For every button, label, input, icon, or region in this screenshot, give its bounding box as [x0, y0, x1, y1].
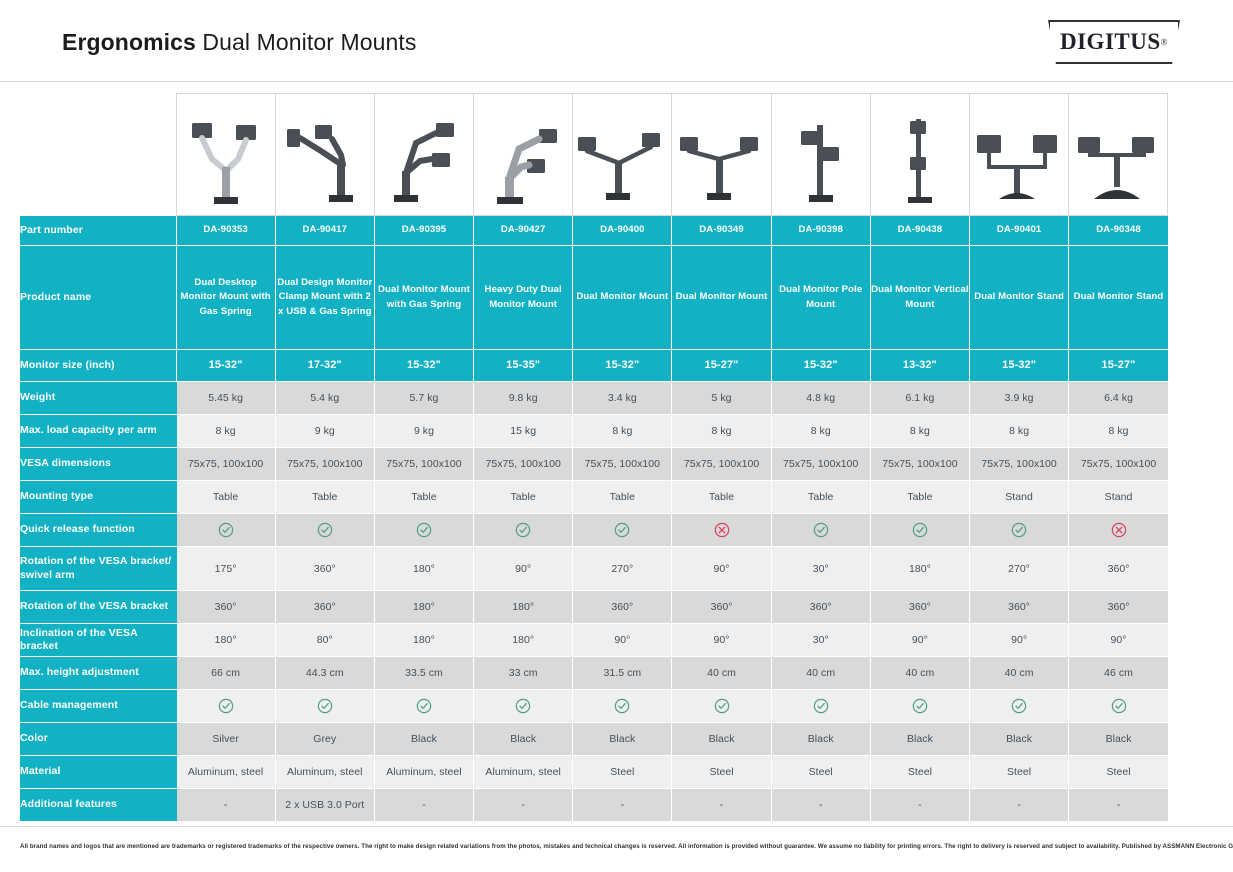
cell-part-number: DA-90427: [474, 216, 573, 246]
product-image-row: [20, 94, 1168, 216]
check-circle-icon: [218, 698, 234, 714]
cell-vesa-dimensions: 75x75, 100x100: [275, 448, 374, 481]
check-circle-icon: [416, 698, 432, 714]
product-image-dual-vertical-mount: [872, 103, 968, 215]
check-circle-icon: [317, 522, 333, 538]
cell-max-load-capacity: 8 kg: [573, 415, 672, 448]
cell-cable-management: [672, 690, 771, 723]
cell-cable-management: [573, 690, 672, 723]
cell-rotation-vesa-swivel-arm: 180°: [870, 547, 969, 591]
cell-max-load-capacity: 8 kg: [1069, 415, 1168, 448]
cell-mounting-type: Table: [672, 481, 771, 514]
cell-cable-management: [771, 690, 870, 723]
table-row-max-load-capacity: Max. load capacity per arm8 kg9 kg9 kg15…: [20, 415, 1168, 448]
cell-cable-management: [970, 690, 1069, 723]
row-label-material: Material: [20, 756, 176, 789]
logo-text-label: DIGITUS: [1060, 29, 1161, 55]
cell-product-name: Heavy Duty Dual Monitor Mount: [474, 246, 573, 350]
cell-max-height-adjustment: 40 cm: [870, 657, 969, 690]
cell-inclination-vesa-bracket: 80°: [275, 624, 374, 657]
cell-rotation-vesa-bracket: 180°: [374, 591, 473, 624]
cell-vesa-dimensions: 75x75, 100x100: [573, 448, 672, 481]
table-row-color: ColorSilverGreyBlackBlackBlackBlackBlack…: [20, 723, 1168, 756]
row-label-mounting-type: Mounting type: [20, 481, 176, 514]
cell-material: Steel: [672, 756, 771, 789]
cell-rotation-vesa-bracket: 360°: [970, 591, 1069, 624]
row-label-rotation-vesa-swivel-arm: Rotation of the VESA bracket/ swivel arm: [20, 547, 176, 591]
cell-additional-features: -: [771, 789, 870, 822]
cell-additional-features: -: [970, 789, 1069, 822]
cell-product-name: Dual Desktop Monitor Mount with Gas Spri…: [176, 246, 275, 350]
cell-additional-features: -: [474, 789, 573, 822]
cell-rotation-vesa-swivel-arm: 175°: [176, 547, 275, 591]
cell-rotation-vesa-swivel-arm: 360°: [1069, 547, 1168, 591]
cell-product-name: Dual Monitor Mount: [573, 246, 672, 350]
cell-material: Aluminum, steel: [374, 756, 473, 789]
cell-part-number: DA-90395: [374, 216, 473, 246]
check-circle-icon: [416, 522, 432, 538]
cell-monitor-size: 15-27": [1069, 350, 1168, 382]
cell-rotation-vesa-bracket: 360°: [275, 591, 374, 624]
cell-rotation-vesa-bracket: 360°: [672, 591, 771, 624]
cell-additional-features: -: [870, 789, 969, 822]
cell-vesa-dimensions: 75x75, 100x100: [176, 448, 275, 481]
cell-material: Steel: [573, 756, 672, 789]
cell-vesa-dimensions: 75x75, 100x100: [771, 448, 870, 481]
cell-mounting-type: Table: [573, 481, 672, 514]
cell-rotation-vesa-swivel-arm: 30°: [771, 547, 870, 591]
product-image-dual-monitor-stand-curved: [1070, 103, 1166, 215]
cell-rotation-vesa-swivel-arm: 360°: [275, 547, 374, 591]
row-label-max-height-adjustment: Max. height adjustment: [20, 657, 176, 690]
cell-max-load-capacity: 8 kg: [870, 415, 969, 448]
cell-material: Aluminum, steel: [275, 756, 374, 789]
cell-material: Aluminum, steel: [176, 756, 275, 789]
cell-max-height-adjustment: 66 cm: [176, 657, 275, 690]
row-label-product-name: Product name: [20, 246, 176, 350]
cell-mounting-type: Table: [176, 481, 275, 514]
table-row-material: MaterialAluminum, steelAluminum, steelAl…: [20, 756, 1168, 789]
cell-rotation-vesa-bracket: 360°: [176, 591, 275, 624]
product-image-dual-monitor-stand-flat: [971, 103, 1067, 215]
cell-monitor-size: 15-32": [573, 350, 672, 382]
product-image-dual-monitor-mount-bar: [674, 103, 770, 215]
product-image-cell: [1069, 94, 1168, 216]
cell-part-number: DA-90398: [771, 216, 870, 246]
table-row-monitor-size: Monitor size (inch)15-32"17-32"15-32"15-…: [20, 350, 1168, 382]
table-row-cable-management: Cable management: [20, 690, 1168, 723]
cell-additional-features: -: [374, 789, 473, 822]
footer-divider: [0, 826, 1233, 827]
cell-vesa-dimensions: 75x75, 100x100: [970, 448, 1069, 481]
cell-max-load-capacity: 8 kg: [970, 415, 1069, 448]
cell-max-load-capacity: 8 kg: [672, 415, 771, 448]
cell-material: Steel: [870, 756, 969, 789]
cell-color: Black: [870, 723, 969, 756]
cell-quick-release-function: [970, 514, 1069, 547]
cell-monitor-size: 15-32": [374, 350, 473, 382]
cell-rotation-vesa-swivel-arm: 270°: [573, 547, 672, 591]
logo-registered-icon: ®: [1161, 37, 1168, 47]
table-row-additional-features: Additional features-2 x USB 3.0 Port----…: [20, 789, 1168, 822]
check-circle-icon: [1011, 522, 1027, 538]
product-image-cell: [275, 94, 374, 216]
image-row-spacer: [20, 94, 176, 216]
cell-color: Black: [374, 723, 473, 756]
cell-monitor-size: 15-35": [474, 350, 573, 382]
cell-part-number: DA-90353: [176, 216, 275, 246]
row-label-max-load-capacity: Max. load capacity per arm: [20, 415, 176, 448]
product-image-dual-arm-gas-spring-black: [376, 103, 472, 215]
product-comparison-table-wrap: Part numberDA-90353DA-90417DA-90395DA-90…: [20, 93, 1168, 822]
cell-monitor-size: 15-32": [771, 350, 870, 382]
cell-color: Black: [474, 723, 573, 756]
cell-vesa-dimensions: 75x75, 100x100: [1069, 448, 1168, 481]
check-circle-icon: [317, 698, 333, 714]
row-label-color: Color: [20, 723, 176, 756]
cell-cable-management: [275, 690, 374, 723]
cell-quick-release-function: [275, 514, 374, 547]
cell-additional-features: 2 x USB 3.0 Port: [275, 789, 374, 822]
cell-monitor-size: 17-32": [275, 350, 374, 382]
cell-rotation-vesa-bracket: 360°: [573, 591, 672, 624]
check-circle-icon: [1111, 698, 1127, 714]
check-circle-icon: [515, 698, 531, 714]
cell-rotation-vesa-bracket: 180°: [474, 591, 573, 624]
cell-monitor-size: 15-27": [672, 350, 771, 382]
cell-weight: 9.8 kg: [474, 382, 573, 415]
cell-additional-features: -: [672, 789, 771, 822]
cell-inclination-vesa-bracket: 90°: [1069, 624, 1168, 657]
row-label-quick-release-function: Quick release function: [20, 514, 176, 547]
page-header: Ergonomics Dual Monitor Mounts DIGITUS®: [0, 0, 1233, 82]
cell-quick-release-function: [771, 514, 870, 547]
footer-disclaimer: All brand names and logos that are menti…: [20, 843, 1220, 850]
cross-circle-icon: [714, 522, 730, 538]
check-circle-icon: [218, 522, 234, 538]
cell-max-height-adjustment: 33 cm: [474, 657, 573, 690]
cell-max-height-adjustment: 40 cm: [970, 657, 1069, 690]
cell-cable-management: [1069, 690, 1168, 723]
cell-rotation-vesa-bracket: 360°: [1069, 591, 1168, 624]
table-row-mounting-type: Mounting typeTableTableTableTableTableTa…: [20, 481, 1168, 514]
cell-material: Aluminum, steel: [474, 756, 573, 789]
cell-weight: 5 kg: [672, 382, 771, 415]
table-row-max-height-adjustment: Max. height adjustment66 cm44.3 cm33.5 c…: [20, 657, 1168, 690]
cell-monitor-size: 15-32": [970, 350, 1069, 382]
product-image-cell: [970, 94, 1069, 216]
product-comparison-table: Part numberDA-90353DA-90417DA-90395DA-90…: [20, 93, 1168, 822]
check-circle-icon: [813, 522, 829, 538]
check-circle-icon: [813, 698, 829, 714]
page-title-light: Dual Monitor Mounts: [202, 29, 416, 55]
cell-vesa-dimensions: 75x75, 100x100: [870, 448, 969, 481]
cell-product-name: Dual Monitor Mount with Gas Spring: [374, 246, 473, 350]
product-image-cell: [474, 94, 573, 216]
row-label-vesa-dimensions: VESA dimensions: [20, 448, 176, 481]
cell-weight: 6.1 kg: [870, 382, 969, 415]
cell-additional-features: -: [573, 789, 672, 822]
cell-color: Black: [970, 723, 1069, 756]
table-row-weight: Weight5.45 kg5.4 kg5.7 kg9.8 kg3.4 kg5 k…: [20, 382, 1168, 415]
table-row-inclination-vesa-bracket: Inclination of the VESA bracket180°80°18…: [20, 624, 1168, 657]
cell-rotation-vesa-swivel-arm: 90°: [672, 547, 771, 591]
row-label-rotation-vesa-bracket: Rotation of the VESA bracket: [20, 591, 176, 624]
cell-part-number: DA-90348: [1069, 216, 1168, 246]
product-image-dual-pole-mount: [773, 103, 869, 215]
cell-rotation-vesa-swivel-arm: 270°: [970, 547, 1069, 591]
cell-inclination-vesa-bracket: 90°: [672, 624, 771, 657]
cell-cable-management: [870, 690, 969, 723]
cell-inclination-vesa-bracket: 180°: [374, 624, 473, 657]
cell-product-name: Dual Monitor Pole Mount: [771, 246, 870, 350]
table-row-vesa-dimensions: VESA dimensions75x75, 100x10075x75, 100x…: [20, 448, 1168, 481]
table-row-part-number: Part numberDA-90353DA-90417DA-90395DA-90…: [20, 216, 1168, 246]
cell-max-load-capacity: 9 kg: [374, 415, 473, 448]
cell-product-name: Dual Design Monitor Clamp Mount with 2 x…: [275, 246, 374, 350]
cell-weight: 3.9 kg: [970, 382, 1069, 415]
cell-mounting-type: Table: [771, 481, 870, 514]
cell-max-height-adjustment: 46 cm: [1069, 657, 1168, 690]
check-circle-icon: [614, 522, 630, 538]
comparison-sheet: Ergonomics Dual Monitor Mounts DIGITUS® …: [0, 0, 1233, 872]
digitus-logo: DIGITUS®: [1048, 20, 1180, 64]
product-image-dual-arm-gas-spring-silver: [178, 103, 274, 215]
cell-monitor-size: 15-32": [176, 350, 275, 382]
cell-weight: 4.8 kg: [771, 382, 870, 415]
cell-color: Grey: [275, 723, 374, 756]
product-image-cell: [573, 94, 672, 216]
cell-vesa-dimensions: 75x75, 100x100: [672, 448, 771, 481]
cell-product-name: Dual Monitor Mount: [672, 246, 771, 350]
row-label-weight: Weight: [20, 382, 176, 415]
cell-cable-management: [374, 690, 473, 723]
logo-wordmark: DIGITUS®: [1048, 20, 1180, 64]
product-image-cell: [771, 94, 870, 216]
cell-max-height-adjustment: 31.5 cm: [573, 657, 672, 690]
table-body: Part numberDA-90353DA-90417DA-90395DA-90…: [20, 94, 1168, 822]
product-image-dual-monitor-mount-wide: [574, 103, 670, 215]
cell-mounting-type: Stand: [1069, 481, 1168, 514]
cross-circle-icon: [1111, 522, 1127, 538]
cell-max-height-adjustment: 33.5 cm: [374, 657, 473, 690]
cell-max-load-capacity: 9 kg: [275, 415, 374, 448]
cell-color: Black: [771, 723, 870, 756]
check-circle-icon: [1011, 698, 1027, 714]
cell-max-height-adjustment: 40 cm: [771, 657, 870, 690]
cell-mounting-type: Table: [374, 481, 473, 514]
cell-inclination-vesa-bracket: 180°: [176, 624, 275, 657]
product-image-dual-arm-usb-grey: [277, 103, 373, 215]
table-row-rotation-vesa-swivel-arm: Rotation of the VESA bracket/ swivel arm…: [20, 547, 1168, 591]
row-label-monitor-size: Monitor size (inch): [20, 350, 176, 382]
cell-inclination-vesa-bracket: 30°: [771, 624, 870, 657]
check-circle-icon: [912, 522, 928, 538]
page-title: Ergonomics Dual Monitor Mounts: [62, 29, 417, 56]
cell-quick-release-function: [474, 514, 573, 547]
cell-part-number: DA-90401: [970, 216, 1069, 246]
cell-vesa-dimensions: 75x75, 100x100: [474, 448, 573, 481]
cell-vesa-dimensions: 75x75, 100x100: [374, 448, 473, 481]
cell-weight: 5.45 kg: [176, 382, 275, 415]
product-image-cell: [176, 94, 275, 216]
row-label-part-number: Part number: [20, 216, 176, 246]
cell-monitor-size: 13-32": [870, 350, 969, 382]
cell-inclination-vesa-bracket: 90°: [573, 624, 672, 657]
cell-max-height-adjustment: 44.3 cm: [275, 657, 374, 690]
cell-weight: 3.4 kg: [573, 382, 672, 415]
cell-additional-features: -: [1069, 789, 1168, 822]
cell-color: Black: [1069, 723, 1168, 756]
cell-rotation-vesa-bracket: 360°: [870, 591, 969, 624]
cell-quick-release-function: [573, 514, 672, 547]
cell-product-name: Dual Monitor Stand: [1069, 246, 1168, 350]
cell-cable-management: [474, 690, 573, 723]
cell-color: Black: [573, 723, 672, 756]
cell-cable-management: [176, 690, 275, 723]
row-label-additional-features: Additional features: [20, 789, 176, 822]
table-row-product-name: Product nameDual Desktop Monitor Mount w…: [20, 246, 1168, 350]
cell-mounting-type: Table: [870, 481, 969, 514]
check-circle-icon: [912, 698, 928, 714]
check-circle-icon: [515, 522, 531, 538]
cell-inclination-vesa-bracket: 90°: [870, 624, 969, 657]
product-image-cell: [870, 94, 969, 216]
cell-product-name: Dual Monitor Stand: [970, 246, 1069, 350]
cell-quick-release-function: [374, 514, 473, 547]
cell-color: Silver: [176, 723, 275, 756]
cell-max-load-capacity: 15 kg: [474, 415, 573, 448]
cell-quick-release-function: [176, 514, 275, 547]
cell-quick-release-function: [870, 514, 969, 547]
cell-inclination-vesa-bracket: 90°: [970, 624, 1069, 657]
cell-weight: 6.4 kg: [1069, 382, 1168, 415]
cell-mounting-type: Table: [474, 481, 573, 514]
cell-rotation-vesa-swivel-arm: 180°: [374, 547, 473, 591]
cell-inclination-vesa-bracket: 180°: [474, 624, 573, 657]
page-title-strong: Ergonomics: [62, 29, 196, 55]
table-row-rotation-vesa-bracket: Rotation of the VESA bracket360°360°180°…: [20, 591, 1168, 624]
cell-weight: 5.4 kg: [275, 382, 374, 415]
product-image-cell: [374, 94, 473, 216]
cell-material: Steel: [771, 756, 870, 789]
product-image-cell: [672, 94, 771, 216]
row-label-cable-management: Cable management: [20, 690, 176, 723]
cell-quick-release-function: [672, 514, 771, 547]
cell-max-load-capacity: 8 kg: [771, 415, 870, 448]
product-image-heavy-duty-dual-arm: [475, 103, 571, 215]
cell-part-number: DA-90438: [870, 216, 969, 246]
cell-material: Steel: [1069, 756, 1168, 789]
cell-part-number: DA-90400: [573, 216, 672, 246]
cell-material: Steel: [970, 756, 1069, 789]
cell-part-number: DA-90417: [275, 216, 374, 246]
check-circle-icon: [714, 698, 730, 714]
cell-mounting-type: Table: [275, 481, 374, 514]
cell-quick-release-function: [1069, 514, 1168, 547]
cell-mounting-type: Stand: [970, 481, 1069, 514]
cell-product-name: Dual Monitor Vertical Mount: [870, 246, 969, 350]
check-circle-icon: [614, 698, 630, 714]
cell-color: Black: [672, 723, 771, 756]
header-divider: [0, 81, 1233, 82]
cell-max-load-capacity: 8 kg: [176, 415, 275, 448]
table-row-quick-release-function: Quick release function: [20, 514, 1168, 547]
row-label-inclination-vesa-bracket: Inclination of the VESA bracket: [20, 624, 176, 657]
cell-additional-features: -: [176, 789, 275, 822]
cell-part-number: DA-90349: [672, 216, 771, 246]
cell-rotation-vesa-bracket: 360°: [771, 591, 870, 624]
cell-max-height-adjustment: 40 cm: [672, 657, 771, 690]
cell-weight: 5.7 kg: [374, 382, 473, 415]
cell-rotation-vesa-swivel-arm: 90°: [474, 547, 573, 591]
